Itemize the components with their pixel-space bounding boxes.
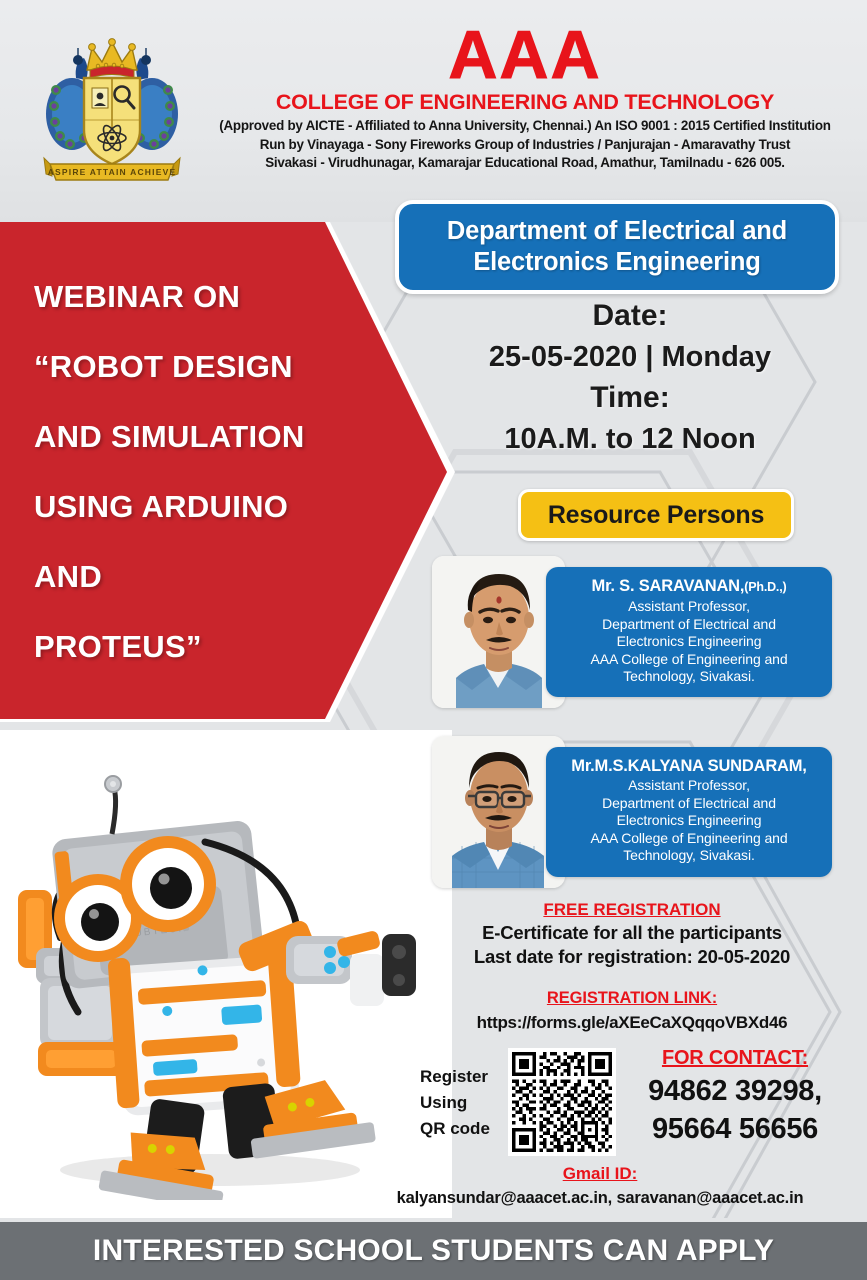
resource-person-2-dept-1: Department of Electrical and [546, 795, 832, 813]
banner-line-3: AND SIMULATION [34, 402, 334, 472]
qr-label-line-2: Using [420, 1090, 510, 1116]
college-acronym: AAA [190, 22, 860, 88]
free-registration-title: FREE REGISTRATION [432, 898, 832, 921]
trust-line: Run by Vinayaga - Sony Fireworks Group o… [190, 136, 860, 155]
e-certificate-line: E-Certificate for all the participants [432, 921, 832, 945]
time-value: 10A.M. to 12 Noon [430, 418, 830, 460]
contact-block: FOR CONTACT: 94862 39298, 95664 56656 [610, 1044, 860, 1148]
poster-root: ASPIRE ATTAIN ACHIEVE AAA COLLEGE OF ENG… [0, 0, 867, 1280]
date-label: Date: [430, 296, 830, 336]
resource-person-2-college-2: Technology, Sivakasi. [546, 847, 832, 865]
address-line: Sivakasi - Virudhunagar, Kamarajar Educa… [190, 154, 860, 173]
free-registration-block: FREE REGISTRATION E-Certificate for all … [432, 898, 832, 969]
college-crest-logo: ASPIRE ATTAIN ACHIEVE [42, 26, 182, 186]
banner-line-1: WEBINAR ON [34, 262, 334, 332]
resource-person-card-1: Mr. S. SARAVANAN,(Ph.D.,) Assistant Prof… [432, 556, 832, 708]
resource-person-1-name: Mr. S. SARAVANAN,(Ph.D.,) [546, 571, 832, 598]
qr-code-container[interactable] [508, 1048, 616, 1156]
college-name: COLLEGE OF ENGINEERING AND TECHNOLOGY [190, 90, 860, 114]
webinar-title-text: WEBINAR ON “ROBOT DESIGN AND SIMULATION … [34, 262, 334, 682]
contact-phone-1: 94862 39298, [610, 1072, 860, 1110]
robot-image-panel: UBTECH [0, 730, 452, 1218]
resource-person-2-info: Mr.M.S.KALYANA SUNDARAM, Assistant Profe… [546, 747, 832, 877]
qr-label-line-1: Register [420, 1064, 510, 1090]
department-name: Department of Electrical and Electronics… [399, 216, 835, 278]
resource-person-1-info: Mr. S. SARAVANAN,(Ph.D.,) Assistant Prof… [546, 567, 832, 697]
schedule-block: Date: 25-05-2020 | Monday Time: 10A.M. t… [430, 296, 830, 460]
gmail-block: Gmail ID: kalyansundar@aaacet.ac.in, sar… [340, 1162, 860, 1210]
contact-title: FOR CONTACT: [610, 1044, 860, 1072]
resource-person-1-college-2: Technology, Sivakasi. [546, 668, 832, 686]
date-value: 25-05-2020 | Monday [430, 336, 830, 378]
registration-link-url[interactable]: https://forms.gle/aXEeCaXQqqoVBXd46 [432, 1010, 832, 1036]
poster-footer: INTERESTED SCHOOL STUDENTS CAN APPLY [0, 1222, 867, 1280]
banner-line-4: USING ARDUINO [34, 472, 334, 542]
banner-line-6: PROTEUS” [34, 612, 334, 682]
resource-person-1-designation: Assistant Professor, [546, 598, 832, 616]
banner-line-5: AND [34, 542, 334, 612]
accreditation-line: (Approved by AICTE - Affiliated to Anna … [190, 117, 860, 136]
resource-persons-badge: Resource Persons [518, 489, 794, 541]
gmail-title: Gmail ID: [340, 1162, 860, 1186]
last-date-line: Last date for registration: 20-05-2020 [432, 945, 832, 969]
resource-person-2-designation: Assistant Professor, [546, 777, 832, 795]
resource-person-1-college-1: AAA College of Engineering and [546, 651, 832, 669]
banner-line-2: “ROBOT DESIGN [34, 332, 334, 402]
gmail-addresses[interactable]: kalyansundar@aaacet.ac.in, saravanan@aaa… [340, 1186, 860, 1210]
resource-persons-label: Resource Persons [548, 501, 764, 530]
registration-link-title: REGISTRATION LINK: [432, 986, 832, 1010]
poster-header: ASPIRE ATTAIN ACHIEVE AAA COLLEGE OF ENG… [0, 0, 867, 222]
resource-person-2-dept-2: Electronics Engineering [546, 812, 832, 830]
header-text-block: AAA COLLEGE OF ENGINEERING AND TECHNOLOG… [190, 22, 860, 173]
resource-person-card-2: Mr.M.S.KALYANA SUNDARAM, Assistant Profe… [432, 736, 832, 888]
contact-phone-2: 95664 56656 [610, 1110, 860, 1148]
svg-text:ASPIRE ATTAIN ACHIEVE: ASPIRE ATTAIN ACHIEVE [48, 167, 177, 177]
resource-person-2-name: Mr.M.S.KALYANA SUNDARAM, [546, 751, 832, 777]
jimu-robot-illustration: UBTECH [0, 770, 440, 1200]
department-banner: Department of Electrical and Electronics… [395, 200, 839, 294]
qr-label-line-3: QR code [420, 1116, 510, 1142]
qr-code-image[interactable] [512, 1052, 612, 1152]
resource-person-1-dept-1: Department of Electrical and [546, 616, 832, 634]
qr-instruction-label: Register Using QR code [420, 1064, 510, 1142]
resource-person-2-college-1: AAA College of Engineering and [546, 830, 832, 848]
footer-message: INTERESTED SCHOOL STUDENTS CAN APPLY [93, 1234, 774, 1268]
registration-link-block: REGISTRATION LINK: https://forms.gle/aXE… [432, 986, 832, 1036]
time-label: Time: [430, 378, 830, 418]
resource-person-1-dept-2: Electronics Engineering [546, 633, 832, 651]
